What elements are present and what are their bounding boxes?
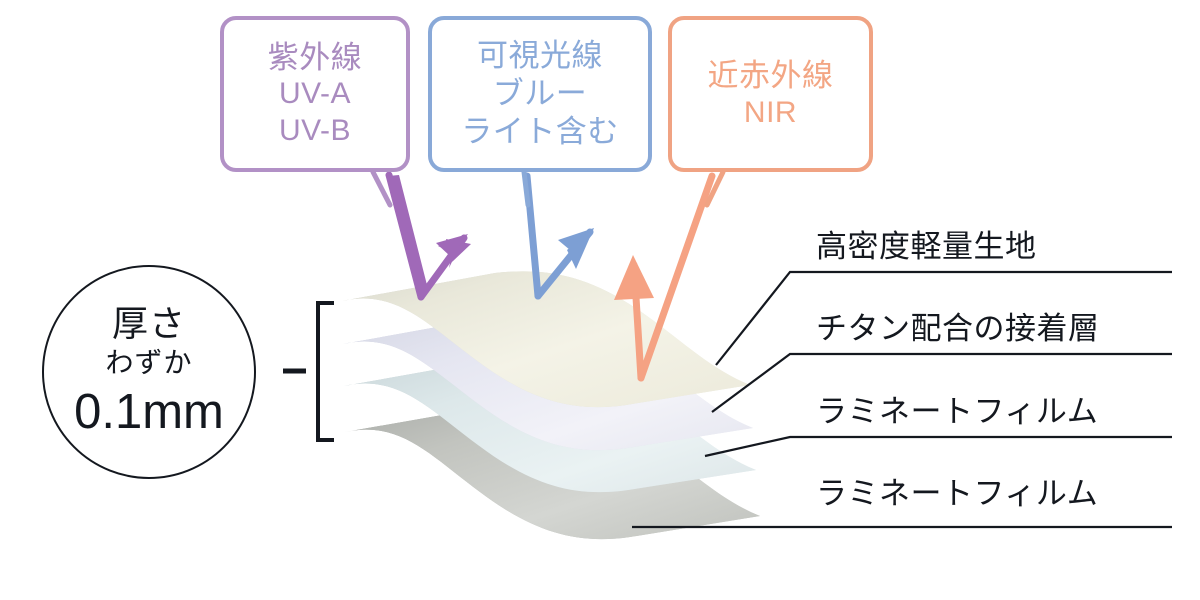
leader-line-laminate-1 xyxy=(705,437,1172,456)
layer-shape-fabric xyxy=(342,271,750,407)
diagram-canvas: 紫外線 UV-A UV-B 可視光線 ブルー ライト含む 近赤外線 NIR 厚さ… xyxy=(0,0,1200,600)
nir-ray-arrow xyxy=(614,176,712,378)
layer-label-laminate-2: ラミネートフィルム xyxy=(816,468,1098,513)
callout-tails xyxy=(373,172,723,205)
layer-shape-laminate-1 xyxy=(344,356,756,492)
callout-nir-line-1: 近赤外線 xyxy=(708,57,834,95)
layer-label-fabric: 高密度軽量生地 xyxy=(816,221,1037,266)
uv-ray-arrow xyxy=(388,175,471,297)
layer-label-titanium: チタン配合の接着層 xyxy=(816,303,1100,348)
callout-near-infrared[interactable]: 近赤外線 NIR xyxy=(668,16,873,172)
callout-ultraviolet[interactable]: 紫外線 UV-A UV-B xyxy=(220,16,410,172)
thickness-value: 0.1mm xyxy=(74,384,224,441)
visible-ray-arrow xyxy=(527,176,594,296)
layer-label-laminate-1: ラミネートフィルム xyxy=(816,386,1098,431)
callout-uv-line-1: 紫外線 xyxy=(268,39,363,77)
thickness-modifier: わずか xyxy=(105,347,192,379)
callout-visible-light[interactable]: 可視光線 ブルー ライト含む xyxy=(428,16,652,172)
callout-visible-line-3: ライト含む xyxy=(461,113,619,151)
callout-uv-line-2: UV-A xyxy=(279,76,351,113)
callout-visible-line-2: ブルー xyxy=(493,75,588,113)
thickness-bracket xyxy=(283,303,334,440)
callout-uv-line-3: UV-B xyxy=(279,113,351,150)
layer-shape-laminate-2 xyxy=(345,396,760,539)
thickness-heading: 厚さ xyxy=(112,303,186,345)
thickness-badge: 厚さ わずか 0.1mm xyxy=(42,265,256,479)
layer-shape-titanium xyxy=(343,314,753,450)
callout-nir-line-2: NIR xyxy=(744,95,797,132)
callout-visible-line-1: 可視光線 xyxy=(477,37,603,75)
